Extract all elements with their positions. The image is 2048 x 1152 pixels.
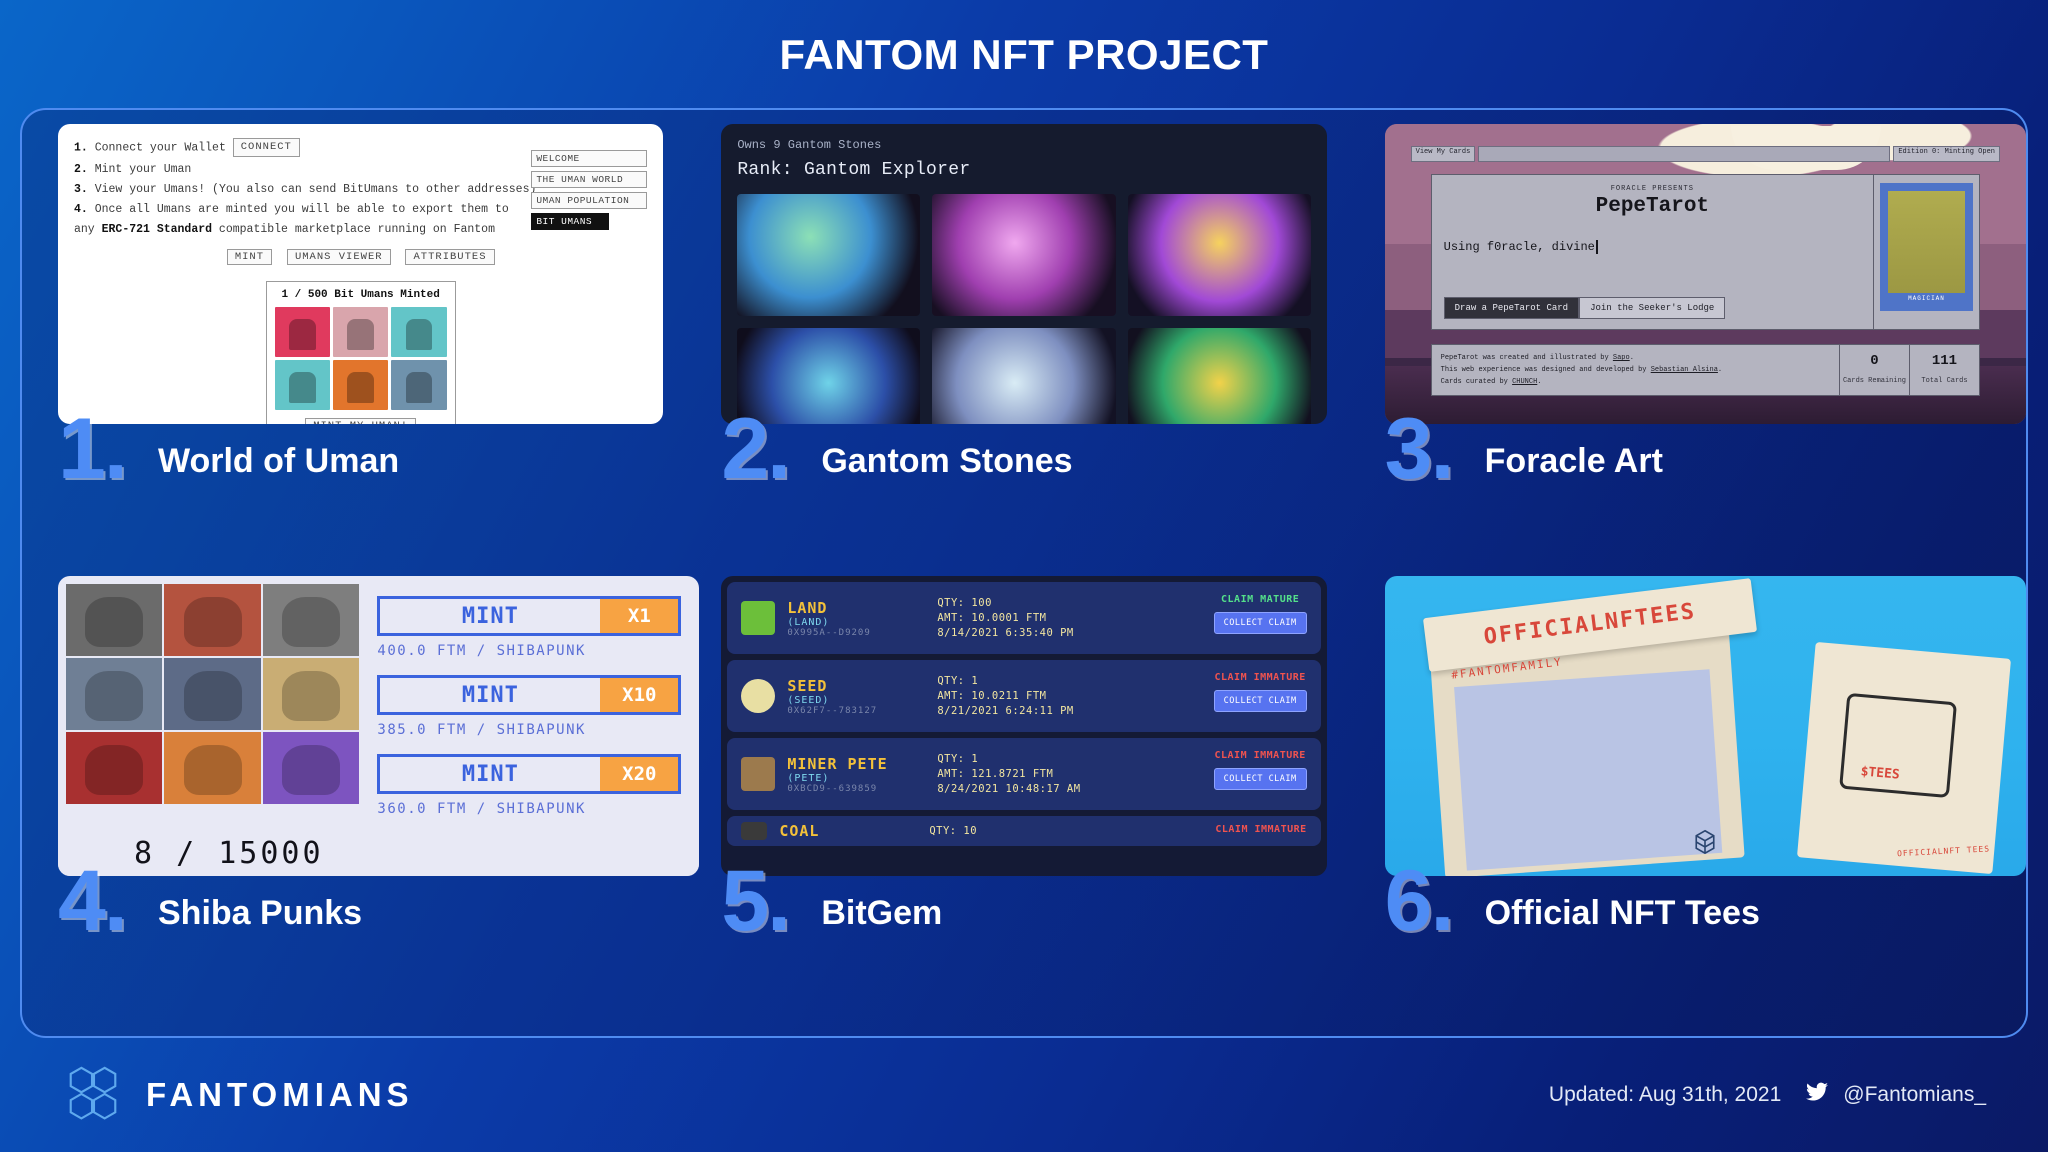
bitgem-qty: QTY: 1: [937, 674, 1073, 689]
screenshot-world-of-uman: 1. Connect your Wallet CONNECT 2. Mint y…: [58, 124, 663, 424]
bitgem-name: SEED: [787, 677, 937, 695]
cards-remaining-value: 0: [1840, 353, 1909, 369]
shiba-punk-tile: [263, 732, 359, 804]
erc-standard: ERC-721 Standard: [102, 223, 212, 236]
bitgem-amt: AMT: 121.8721 FTM: [937, 767, 1080, 782]
pepetarot-prompt[interactable]: Using f0racle, divine: [1444, 240, 1861, 254]
claim-status-badge: CLAIM MATURE: [1214, 594, 1307, 605]
card-caption: 1. World of Uman: [58, 424, 673, 498]
uman-tile: [275, 360, 330, 410]
card-number: 6.: [1385, 871, 1481, 933]
tarot-card-inner: [1888, 191, 1965, 303]
bitgem-date: 8/14/2021 6:35:40 PM: [937, 626, 1073, 641]
fantomians-logo-icon: [62, 1062, 124, 1129]
step-number: 3.: [74, 183, 88, 196]
bitgem-amt: AMT: 10.0211 FTM: [937, 689, 1073, 704]
twitter-block[interactable]: @Fantomians_: [1803, 1080, 1986, 1110]
uman-tile: [275, 307, 330, 357]
uman-mint-panel: 1 / 500 Bit Umans Minted MINT MY UMAN!: [266, 281, 456, 424]
card-title: Official NFT Tees: [1485, 894, 1760, 933]
shiba-mint-button-x20[interactable]: MINT X20: [377, 754, 681, 794]
project-grid: 1. Connect your Wallet CONNECT 2. Mint y…: [20, 112, 2028, 1034]
uman-tile: [333, 307, 388, 357]
bitgem-name-block: COAL: [779, 822, 929, 840]
uman-nav-welcome[interactable]: WELCOME: [531, 150, 647, 167]
shiba-punk-tile: [164, 658, 260, 730]
project-card-world-of-uman[interactable]: 1. Connect your Wallet CONNECT 2. Mint y…: [40, 124, 681, 572]
gantom-owns: Owns 9 Gantom Stones: [737, 138, 1310, 152]
collect-claim-button[interactable]: COLLECT CLAIM: [1214, 612, 1307, 634]
bitgem-name: COAL: [779, 822, 929, 840]
shiba-punk-tile: [263, 584, 359, 656]
shiba-price-x10: 385.0 FTM / SHIBAPUNK: [377, 722, 681, 738]
uman-tile: [391, 360, 446, 410]
screenshot-foracle-art: View My Cards Edition 0: Minting Open FO…: [1385, 124, 2026, 424]
tab-attributes[interactable]: ATTRIBUTES: [405, 249, 494, 265]
card-title: Foracle Art: [1485, 442, 1663, 481]
credit-prefix: Cards curated by: [1441, 378, 1512, 386]
card-title: BitGem: [821, 894, 942, 933]
card-number: 2.: [721, 419, 817, 481]
project-card-gantom-stones[interactable]: Owns 9 Gantom Stones Rank: Gantom Explor…: [703, 124, 1344, 572]
credit-line-3: Cards curated by CHUNCH.: [1441, 376, 1830, 388]
total-cards-value: 111: [1910, 353, 1979, 369]
screenshot-shiba-punks: MINT X1 400.0 FTM / SHIBAPUNK MINT X10 3…: [58, 576, 699, 876]
cards-remaining-stat: 0 Cards Remaining: [1839, 345, 1909, 395]
fantom-logo-icon: [1690, 827, 1720, 862]
card-number: 5.: [721, 871, 817, 933]
foracle-credits-bar: PepeTarot was created and illustrated by…: [1431, 344, 1980, 396]
bitgem-name-block: SEED (SEED) 0X62F7--783127: [787, 677, 937, 716]
credit-line-2: This web experience was designed and dev…: [1441, 364, 1830, 376]
bitgem-qty: QTY: 10: [929, 824, 977, 839]
mint-label: MINT: [380, 599, 600, 633]
box-edge-text: OFFICIALNFT TEES: [1897, 844, 1990, 858]
claim-status-badge: CLAIM IMMATURE: [1214, 672, 1307, 683]
bitgem-meta-block: QTY: 1 AMT: 121.8721 FTM 8/24/2021 10:48…: [937, 752, 1080, 797]
credit-link[interactable]: CHUNCH: [1512, 378, 1537, 386]
project-card-official-nft-tees[interactable]: OFFICIALNFTEES #FANTOMFAMILY $TEES OFFIC…: [1367, 576, 2008, 1024]
shiba-punk-tile: [66, 658, 162, 730]
bitgem-name-block: MINER PETE (PETE) 0XBCD9--639859: [787, 755, 937, 794]
cards-remaining-label: Cards Remaining: [1843, 377, 1906, 385]
bitgem-address: 0XBCD9--639859: [787, 784, 937, 794]
gantom-stone-grid: [737, 194, 1310, 424]
uman-nav-the-uman-world[interactable]: THE UMAN WORLD: [531, 171, 647, 188]
shiba-mint-row-x20: MINT X20 360.0 FTM / SHIBAPUNK: [377, 754, 681, 817]
shiba-mint-button-x10[interactable]: MINT X10: [377, 675, 681, 715]
tarot-card-art: MAGICIAN: [1880, 183, 1973, 311]
toolbar-spacer: [1478, 146, 1890, 162]
screenshot-official-nft-tees: OFFICIALNFTEES #FANTOMFAMILY $TEES OFFIC…: [1385, 576, 2026, 876]
shiba-punk-grid: [66, 584, 359, 804]
foracle-toolbar: View My Cards Edition 0: Minting Open: [1411, 146, 2000, 162]
pepetarot-main: FORACLE PRESENTS PepeTarot Using f0racle…: [1432, 175, 1873, 329]
credit-prefix: PepeTarot was created and illustrated by: [1441, 354, 1613, 362]
credit-prefix: This web experience was designed and dev…: [1441, 366, 1651, 374]
total-cards-label: Total Cards: [1921, 377, 1967, 385]
shiba-mint-row-x10: MINT X10 385.0 FTM / SHIBAPUNK: [377, 675, 681, 738]
brand-block: FANTOMIANS: [62, 1062, 414, 1129]
shiba-mint-counter: 8 / 15000: [58, 830, 699, 876]
total-cards-stat: 111 Total Cards: [1909, 345, 1979, 395]
pepetarot-window: FORACLE PRESENTS PepeTarot Using f0racle…: [1431, 174, 1980, 330]
mint-label: MINT: [380, 678, 600, 712]
card-caption: 3. Foracle Art: [1385, 424, 2000, 498]
tab-umans-viewer[interactable]: UMANS VIEWER: [287, 249, 391, 265]
prompt-text: Using f0racle, divine: [1444, 240, 1595, 254]
uman-nav[interactable]: WELCOME THE UMAN WORLD UMAN POPULATION B…: [531, 150, 647, 234]
step-number: 2.: [74, 163, 88, 176]
page-title: FANTOM NFT PROJECT: [0, 0, 2048, 108]
step-text-pre: any: [74, 223, 102, 236]
brand-name: FANTOMIANS: [146, 1076, 414, 1114]
step-text: Once all Umans are minted you will be ab…: [95, 203, 509, 216]
join-lodge-button[interactable]: Join the Seeker's Lodge: [1579, 297, 1725, 319]
uman-preview-grid: [275, 307, 447, 410]
gantom-stone[interactable]: [1128, 328, 1311, 424]
claim-status-badge: CLAIM IMMATURE: [1214, 750, 1307, 761]
mint-label: MINT: [380, 757, 600, 791]
tarot-card-preview: MAGICIAN: [1873, 175, 1979, 329]
credits-text: PepeTarot was created and illustrated by…: [1432, 345, 1839, 395]
draw-card-button[interactable]: Draw a PepeTarot Card: [1444, 297, 1579, 319]
card-title: Gantom Stones: [821, 442, 1072, 481]
card-caption: 6. Official NFT Tees: [1385, 876, 2000, 950]
bitgem-address: 0X995A--D9209: [787, 628, 937, 638]
bitgem-amt: AMT: 10.0001 FTM: [937, 611, 1073, 626]
shiba-price-x20: 360.0 FTM / SHIBAPUNK: [377, 801, 681, 817]
bitgem-date: 8/24/2021 10:48:17 AM: [937, 782, 1080, 797]
step-text: Mint your Uman: [95, 163, 192, 176]
gantom-stone[interactable]: [1128, 194, 1311, 316]
box-contents: [1454, 669, 1722, 870]
bitgem-qty: QTY: 1: [937, 752, 1080, 767]
step-text-post: compatible marketplace running on Fantom: [212, 223, 495, 236]
project-card-foracle-art[interactable]: View My Cards Edition 0: Minting Open FO…: [1367, 124, 2008, 572]
pepetarot-buttons: Draw a PepeTarot Card Join the Seeker's …: [1444, 297, 1861, 319]
credit-link[interactable]: Sapo: [1613, 354, 1630, 362]
screenshot-bitgem: LAND (LAND) 0X995A--D9209 QTY: 100 AMT: …: [721, 576, 1326, 876]
credit-link[interactable]: Sebastian Alsina: [1651, 366, 1718, 374]
bitgem-action-block: CLAIM IMMATURE: [1215, 824, 1306, 835]
bitgem-name: LAND: [787, 599, 937, 617]
card-number: 4.: [58, 871, 154, 933]
shiba-punk-tile: [164, 584, 260, 656]
bitgem-symbol: (LAND): [787, 617, 937, 628]
card-number: 1.: [58, 419, 154, 481]
shiba-punk-tile: [263, 658, 359, 730]
second-box: $TEES OFFICIALNFT TEES: [1797, 642, 2011, 874]
shiba-punk-tile: [164, 732, 260, 804]
view-my-cards-button[interactable]: View My Cards: [1411, 146, 1476, 162]
screenshot-gantom-stones: Owns 9 Gantom Stones Rank: Gantom Explor…: [721, 124, 1326, 424]
bitgem-action-block: CLAIM IMMATURE COLLECT CLAIM: [1214, 750, 1307, 790]
bitgem-name-block: LAND (LAND) 0X995A--D9209: [787, 599, 937, 638]
bitgem-qty: QTY: 100: [937, 596, 1073, 611]
bitgem-meta-block: QTY: 10: [929, 824, 977, 839]
card-caption: 4. Shiba Punks: [58, 876, 673, 950]
minted-counter: 1 / 500 Bit Umans Minted: [275, 289, 447, 301]
card-title: Shiba Punks: [158, 894, 362, 933]
coal-icon: [741, 822, 767, 840]
edition-status: Edition 0: Minting Open: [1893, 146, 2000, 162]
seed-icon: [741, 679, 775, 713]
gantom-rank: Rank: Gantom Explorer: [737, 160, 1310, 180]
land-icon: [741, 601, 775, 635]
uman-tile: [391, 307, 446, 357]
shiba-mint-row-x1: MINT X1 400.0 FTM / SHIBAPUNK: [377, 596, 681, 659]
step-text: Connect your Wallet: [95, 142, 226, 155]
mint-quantity: X1: [600, 599, 678, 633]
card-title: World of Uman: [158, 442, 399, 481]
uman-tabs[interactable]: MINT UMANS VIEWER ATTRIBUTES: [74, 249, 647, 265]
bitgem-row[interactable]: MINER PETE (PETE) 0XBCD9--639859 QTY: 1 …: [727, 738, 1320, 810]
tarot-card-caption: MAGICIAN: [1888, 293, 1965, 305]
bitgem-row[interactable]: SEED (SEED) 0X62F7--783127 QTY: 1 AMT: 1…: [727, 660, 1320, 732]
uman-tile: [333, 360, 388, 410]
bitgem-symbol: (SEED): [787, 695, 937, 706]
bitgem-date: 8/21/2021 6:24:11 PM: [937, 704, 1073, 719]
shiba-punk-tile: [66, 732, 162, 804]
footer-right: Updated: Aug 31th, 2021 @Fantomians_: [1549, 1080, 1986, 1110]
bitgem-action-block: CLAIM MATURE COLLECT CLAIM: [1214, 594, 1307, 634]
updated-date: Updated: Aug 31th, 2021: [1549, 1083, 1781, 1107]
gantom-stone[interactable]: [737, 194, 920, 316]
bitgem-symbol: (PETE): [787, 773, 937, 784]
project-card-bitgem[interactable]: LAND (LAND) 0X995A--D9209 QTY: 100 AMT: …: [703, 576, 1344, 1024]
mint-quantity: X10: [600, 678, 678, 712]
page-footer: FANTOMIANS Updated: Aug 31th, 2021 @Fant…: [0, 1038, 2048, 1152]
bitgem-row[interactable]: LAND (LAND) 0X995A--D9209 QTY: 100 AMT: …: [727, 582, 1320, 654]
pepetarot-title: PepeTarot: [1444, 195, 1861, 218]
miner-pete-icon: [741, 757, 775, 791]
tab-mint[interactable]: MINT: [227, 249, 272, 265]
bitgem-action-block: CLAIM IMMATURE COLLECT CLAIM: [1214, 672, 1307, 712]
twitter-handle[interactable]: @Fantomians_: [1843, 1083, 1986, 1107]
twitter-icon: [1803, 1080, 1831, 1110]
gantom-stone[interactable]: [932, 194, 1115, 316]
step-number: 1.: [74, 142, 88, 155]
uman-nav-bit-umans[interactable]: BIT UMANS: [531, 213, 609, 230]
bitgem-address: 0X62F7--783127: [787, 706, 937, 716]
bitgem-meta-block: QTY: 100 AMT: 10.0001 FTM 8/14/2021 6:35…: [937, 596, 1073, 641]
shiba-price-x1: 400.0 FTM / SHIBAPUNK: [377, 643, 681, 659]
shiba-punk-tile: [66, 584, 162, 656]
card-caption: 5. BitGem: [721, 876, 1336, 950]
collect-claim-button[interactable]: COLLECT CLAIM: [1214, 768, 1307, 790]
collect-claim-button[interactable]: COLLECT CLAIM: [1214, 690, 1307, 712]
foracle-presents-label: FORACLE PRESENTS: [1444, 185, 1861, 193]
step-number: 4.: [74, 203, 88, 216]
connect-button[interactable]: CONNECT: [233, 138, 300, 157]
bitgem-meta-block: QTY: 1 AMT: 10.0211 FTM 8/21/2021 6:24:1…: [937, 674, 1073, 719]
step-text: View your Umans! (You also can send BitU…: [95, 183, 537, 196]
uman-nav-uman-population[interactable]: UMAN POPULATION: [531, 192, 647, 209]
claim-status-badge: CLAIM IMMATURE: [1215, 824, 1306, 835]
bitgem-name: MINER PETE: [787, 755, 937, 773]
gantom-stone[interactable]: [932, 328, 1115, 424]
card-number: 3.: [1385, 419, 1481, 481]
card-caption: 2. Gantom Stones: [721, 424, 1336, 498]
mint-quantity: X20: [600, 757, 678, 791]
credit-line-1: PepeTarot was created and illustrated by…: [1441, 352, 1830, 364]
text-cursor: [1596, 240, 1605, 254]
project-card-shiba-punks[interactable]: MINT X1 400.0 FTM / SHIBAPUNK MINT X10 3…: [40, 576, 681, 1024]
shiba-mint-button-x1[interactable]: MINT X1: [377, 596, 681, 636]
bitgem-row[interactable]: COAL QTY: 10 CLAIM IMMATURE: [727, 816, 1320, 846]
